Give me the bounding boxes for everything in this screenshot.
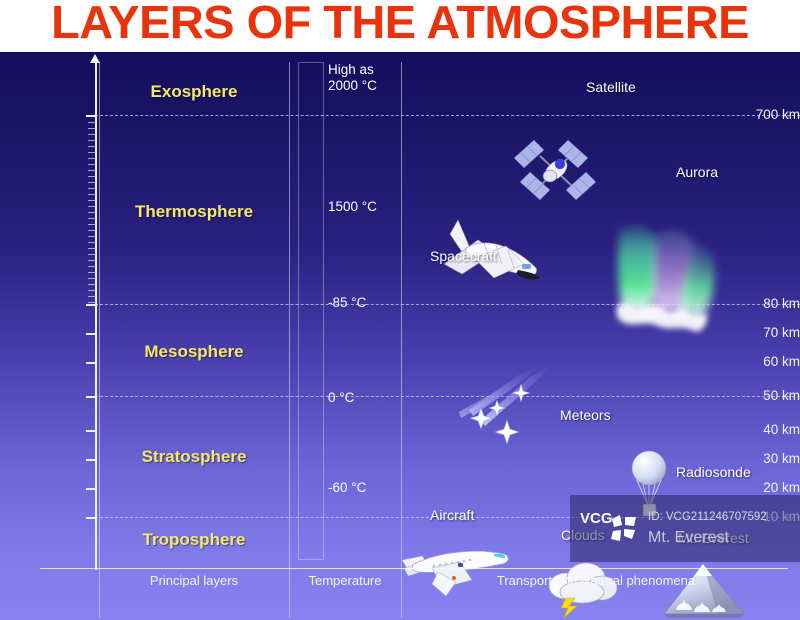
axis-minor-tick: [88, 248, 96, 249]
axis-minor-tick: [88, 284, 96, 285]
satellite-icon: [510, 130, 600, 210]
footer-label-temperature: Temperature: [290, 573, 400, 588]
infographic-root: LAYERS OF THE ATMOSPHERE 700 km 80 km 70…: [0, 0, 800, 620]
axis-minor-tick: [88, 224, 96, 225]
axis-minor-tick: [88, 296, 96, 297]
tick-20km: [86, 488, 97, 490]
layer-label-troposphere: Troposphere: [100, 530, 288, 550]
tick-80km: [86, 304, 97, 306]
watermark-id: ID: VCG211246707592: [648, 511, 767, 523]
phenomenon-label-radiosonde: Radiosonde: [676, 464, 751, 480]
tick-700km: [86, 115, 97, 117]
axis-minor-tick: [88, 146, 96, 147]
temp-label-minus60c: -60 °C: [328, 480, 406, 496]
footer-label-transport: Transport and Natural phenomena: [404, 573, 788, 588]
tick-70km: [86, 333, 97, 335]
axis-minor-tick: [88, 230, 96, 231]
footer-rule: [40, 568, 788, 569]
svg-text:VCG: VCG: [580, 510, 613, 527]
axis-minor-tick: [88, 278, 96, 279]
axis-minor-tick: [88, 236, 96, 237]
axis-minor-tick: [88, 176, 96, 177]
boundary-700km: [95, 115, 800, 116]
axis-label-50km: 50 km: [736, 388, 800, 403]
layer-label-thermosphere: Thermosphere: [100, 202, 288, 222]
axis-minor-tick: [88, 152, 96, 153]
altitude-axis: [95, 62, 97, 570]
temp-label-line2: 2000 °C: [328, 78, 406, 94]
axis-minor-tick: [88, 182, 96, 183]
axis-minor-tick: [88, 128, 96, 129]
axis-minor-tick: [88, 260, 96, 261]
axis-minor-tick: [88, 188, 96, 189]
footer-label-principal-layers: Principal layers: [100, 573, 288, 588]
temp-label-minus85c: -85 °C: [328, 295, 406, 311]
tick-40km: [86, 430, 97, 432]
phenomenon-label-spacecraft: Spacecraft: [430, 248, 497, 264]
divider-layers-right: [289, 62, 290, 618]
axis-minor-tick: [88, 212, 96, 213]
axis-minor-tick: [88, 122, 96, 123]
watermark-caption: Mt. Everest: [648, 529, 729, 547]
axis-label-60km: 60 km: [736, 354, 800, 369]
axis-minor-tick: [88, 200, 96, 201]
boundary-50km: [95, 396, 800, 397]
axis-minor-tick: [88, 218, 96, 219]
vcg-logo-icon: VCG: [578, 503, 642, 555]
axis-label-70km: 70 km: [736, 325, 800, 340]
axis-minor-tick: [88, 134, 96, 135]
temp-label-1500c: 1500 °C: [328, 199, 406, 215]
axis-label-40km: 40 km: [736, 422, 800, 437]
layer-label-stratosphere: Stratosphere: [100, 447, 288, 467]
temp-label-line1: High as: [328, 62, 406, 78]
axis-minor-tick: [88, 140, 96, 141]
divider-temp-right: [401, 62, 402, 618]
tick-60km: [86, 362, 97, 364]
mountain-icon: [660, 562, 750, 620]
axis-label-700km: 700 km: [736, 107, 800, 122]
phenomenon-label-aircraft: Aircraft: [430, 507, 474, 523]
axis-label-20km: 20 km: [736, 480, 800, 495]
axis-minor-tick: [88, 266, 96, 267]
axis-minor-tick: [88, 164, 96, 165]
atmosphere-diagram: 700 km 80 km 70 km 60 km 50 km 40 km 30 …: [0, 52, 800, 620]
meteors-icon: [455, 362, 560, 447]
tick-10km: [86, 517, 97, 519]
watermark-overlay: VCG ID: VCG211246707592 Mt. Everest: [570, 495, 800, 562]
layer-label-mesosphere: Mesosphere: [100, 342, 288, 362]
tick-30km: [86, 459, 97, 461]
airplane-icon: [398, 540, 520, 602]
axis-minor-tick: [88, 194, 96, 195]
phenomenon-label-meteors: Meteors: [560, 407, 611, 423]
axis-minor-tick: [88, 158, 96, 159]
axis-minor-tick: [88, 302, 96, 303]
axis-minor-tick: [88, 290, 96, 291]
temp-label-0c: 0 °C: [328, 390, 406, 406]
title-bar: LAYERS OF THE ATMOSPHERE: [0, 0, 800, 52]
axis-minor-tick: [88, 206, 96, 207]
temp-label-2000c-top: High as 2000 °C: [328, 62, 406, 94]
phenomenon-label-aurora: Aurora: [676, 164, 718, 180]
phenomenon-label-satellite: Satellite: [586, 79, 636, 95]
page-title: LAYERS OF THE ATMOSPHERE: [0, 0, 800, 49]
axis-minor-tick: [88, 272, 96, 273]
temperature-gradient-bar: [298, 62, 324, 560]
axis-minor-tick: [88, 254, 96, 255]
tick-50km: [86, 396, 97, 398]
axis-minor-tick: [88, 242, 96, 243]
aurora-icon: [612, 214, 724, 336]
axis-label-80km: 80 km: [736, 296, 800, 311]
axis-minor-tick: [88, 170, 96, 171]
layer-label-exosphere: Exosphere: [100, 82, 288, 102]
